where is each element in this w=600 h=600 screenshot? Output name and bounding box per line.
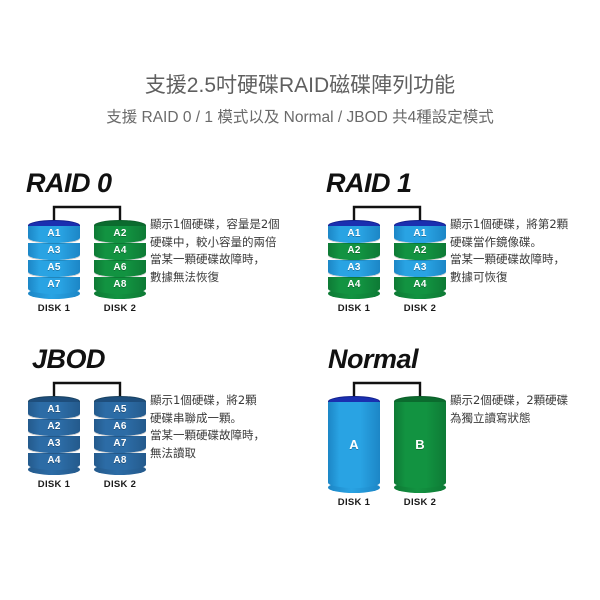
disk-column: A5A6A7A8DISK 2: [94, 396, 146, 490]
disk-band-label: A3: [47, 439, 60, 449]
description-line: 數據無法恢復: [150, 269, 280, 287]
mode-title-raid1: RAID 1: [326, 168, 412, 198]
description-line: 顯示1個硬碟，將第2顆: [450, 216, 568, 234]
disk-band: A1: [394, 226, 446, 243]
disk-band: A5: [28, 260, 80, 277]
mode-description-raid0: 顯示1個硬碟，容量是2個硬碟中，較小容量的兩倍當某一顆硬碟故障時，數據無法恢復: [150, 216, 280, 286]
mode-description-jbod: 顯示1個硬碟，將2顆硬碟串聯成一顆。當某一顆硬碟故障時，無法讀取: [150, 392, 265, 462]
description-line: 顯示1個硬碟，容量是2個: [150, 216, 280, 234]
disk-name-label: DISK 2: [104, 303, 136, 314]
page-subtitle: 支援 RAID 0 / 1 模式以及 Normal / JBOD 共4種設定模式: [0, 106, 600, 130]
description-line: 當某一顆硬碟故障時，: [450, 251, 568, 269]
disk-cylinder: A: [328, 396, 380, 493]
disk-band: A8: [94, 453, 146, 470]
disk-band-label: A2: [113, 229, 126, 239]
disk-band-label: A2: [347, 246, 360, 256]
disk-cylinder: A1A2A3A4: [328, 220, 380, 299]
disk-cylinder: A1A2A3A4: [394, 220, 446, 299]
header: 支援2.5吋硬碟RAID磁碟陣列功能 支援 RAID 0 / 1 模式以及 No…: [0, 72, 600, 130]
description-line: 硬碟串聯成一顆。: [150, 410, 265, 428]
disk-band: A1: [28, 226, 80, 243]
disk-row: A1A2A3A4DISK 1A1A2A3A4DISK 2: [328, 220, 446, 314]
description-line: 數據可恢復: [450, 269, 568, 287]
disk-band: A3: [28, 436, 80, 453]
disk-row: A1A3A5A7DISK 1A2A4A6A8DISK 2: [28, 220, 146, 314]
disk-band: A7: [28, 277, 80, 294]
disk-column: A1A3A5A7DISK 1: [28, 220, 80, 314]
disk-band: A4: [328, 277, 380, 294]
disk-band-label: A2: [47, 422, 60, 432]
disk-band: A2: [394, 243, 446, 260]
disk-row: ADISK 1BDISK 2: [328, 396, 446, 508]
disk-band: A: [328, 402, 380, 488]
disk-band: A1: [28, 402, 80, 419]
disk-band-label: A4: [413, 280, 426, 290]
disk-name-label: DISK 2: [104, 479, 136, 490]
disk-band: A3: [394, 260, 446, 277]
disk-band: A4: [394, 277, 446, 294]
disk-band-label: A3: [347, 263, 360, 273]
disk-band: A2: [328, 243, 380, 260]
disk-name-label: DISK 1: [338, 497, 370, 508]
mode-description-normal: 顯示2個硬碟，2顆硬碟為獨立讀寫狀態: [450, 392, 568, 427]
description-line: 硬碟中，較小容量的兩倍: [150, 234, 280, 252]
raid-infographic: 支援2.5吋硬碟RAID磁碟陣列功能 支援 RAID 0 / 1 模式以及 No…: [0, 0, 600, 600]
mode-title-normal: Normal: [328, 344, 418, 374]
description-line: 當某一顆硬碟故障時，: [150, 251, 280, 269]
disk-band-label: A4: [47, 456, 60, 466]
disk-band-label: A8: [113, 280, 126, 290]
disk-band: A2: [28, 419, 80, 436]
disk-name-label: DISK 2: [404, 497, 436, 508]
mode-description-raid1: 顯示1個硬碟，將第2顆硬碟當作鏡像碟。當某一顆硬碟故障時，數據可恢復: [450, 216, 568, 286]
disk-band-label: A8: [113, 456, 126, 466]
mode-title-raid0: RAID 0: [26, 168, 112, 198]
disk-cylinder: A1A2A3A4: [28, 396, 80, 475]
disk-row: A1A2A3A4DISK 1A5A6A7A8DISK 2: [28, 396, 146, 490]
disk-band-label: A1: [47, 229, 60, 239]
disk-band-label: A4: [347, 280, 360, 290]
disk-band: A3: [28, 243, 80, 260]
disk-cylinder: A5A6A7A8: [94, 396, 146, 475]
disk-band-label: A7: [47, 280, 60, 290]
disk-band-label: A4: [113, 246, 126, 256]
disk-cylinder: A2A4A6A8: [94, 220, 146, 299]
disk-band: A6: [94, 419, 146, 436]
disk-band-label: A1: [413, 229, 426, 239]
disk-cylinder: B: [394, 396, 446, 493]
disk-band-label: B: [415, 438, 425, 451]
disk-band: A5: [94, 402, 146, 419]
disk-band-label: A5: [113, 405, 126, 415]
disk-band: A3: [328, 260, 380, 277]
disk-band-label: A5: [47, 263, 60, 273]
disk-band-label: A2: [413, 246, 426, 256]
disk-band-label: A6: [113, 422, 126, 432]
disk-name-label: DISK 2: [404, 303, 436, 314]
disk-column: ADISK 1: [328, 396, 380, 508]
disk-band: A8: [94, 277, 146, 294]
disk-name-label: DISK 1: [38, 303, 70, 314]
disk-column: A1A2A3A4DISK 1: [328, 220, 380, 314]
disk-band: B: [394, 402, 446, 488]
disk-band: A7: [94, 436, 146, 453]
mode-title-jbod: JBOD: [32, 344, 105, 374]
disk-band-label: A: [349, 438, 359, 451]
description-line: 為獨立讀寫狀態: [450, 410, 568, 428]
disk-band: A4: [94, 243, 146, 260]
disk-column: A1A2A3A4DISK 2: [394, 220, 446, 314]
disk-column: BDISK 2: [394, 396, 446, 508]
disk-band: A6: [94, 260, 146, 277]
disk-band: A1: [328, 226, 380, 243]
disk-column: A2A4A6A8DISK 2: [94, 220, 146, 314]
description-line: 無法讀取: [150, 445, 265, 463]
disk-cylinder: A1A3A5A7: [28, 220, 80, 299]
description-line: 顯示1個硬碟，將2顆: [150, 392, 265, 410]
disk-band-label: A3: [413, 263, 426, 273]
description-line: 顯示2個硬碟，2顆硬碟: [450, 392, 568, 410]
disk-band: A4: [28, 453, 80, 470]
disk-band: A2: [94, 226, 146, 243]
disk-band-label: A1: [47, 405, 60, 415]
disk-band-label: A6: [113, 263, 126, 273]
disk-name-label: DISK 1: [338, 303, 370, 314]
disk-name-label: DISK 1: [38, 479, 70, 490]
disk-band-label: A3: [47, 246, 60, 256]
disk-band-label: A7: [113, 439, 126, 449]
description-line: 硬碟當作鏡像碟。: [450, 234, 568, 252]
disk-band-label: A1: [347, 229, 360, 239]
description-line: 當某一顆硬碟故障時，: [150, 427, 265, 445]
disk-column: A1A2A3A4DISK 1: [28, 396, 80, 490]
page-title: 支援2.5吋硬碟RAID磁碟陣列功能: [0, 72, 600, 100]
